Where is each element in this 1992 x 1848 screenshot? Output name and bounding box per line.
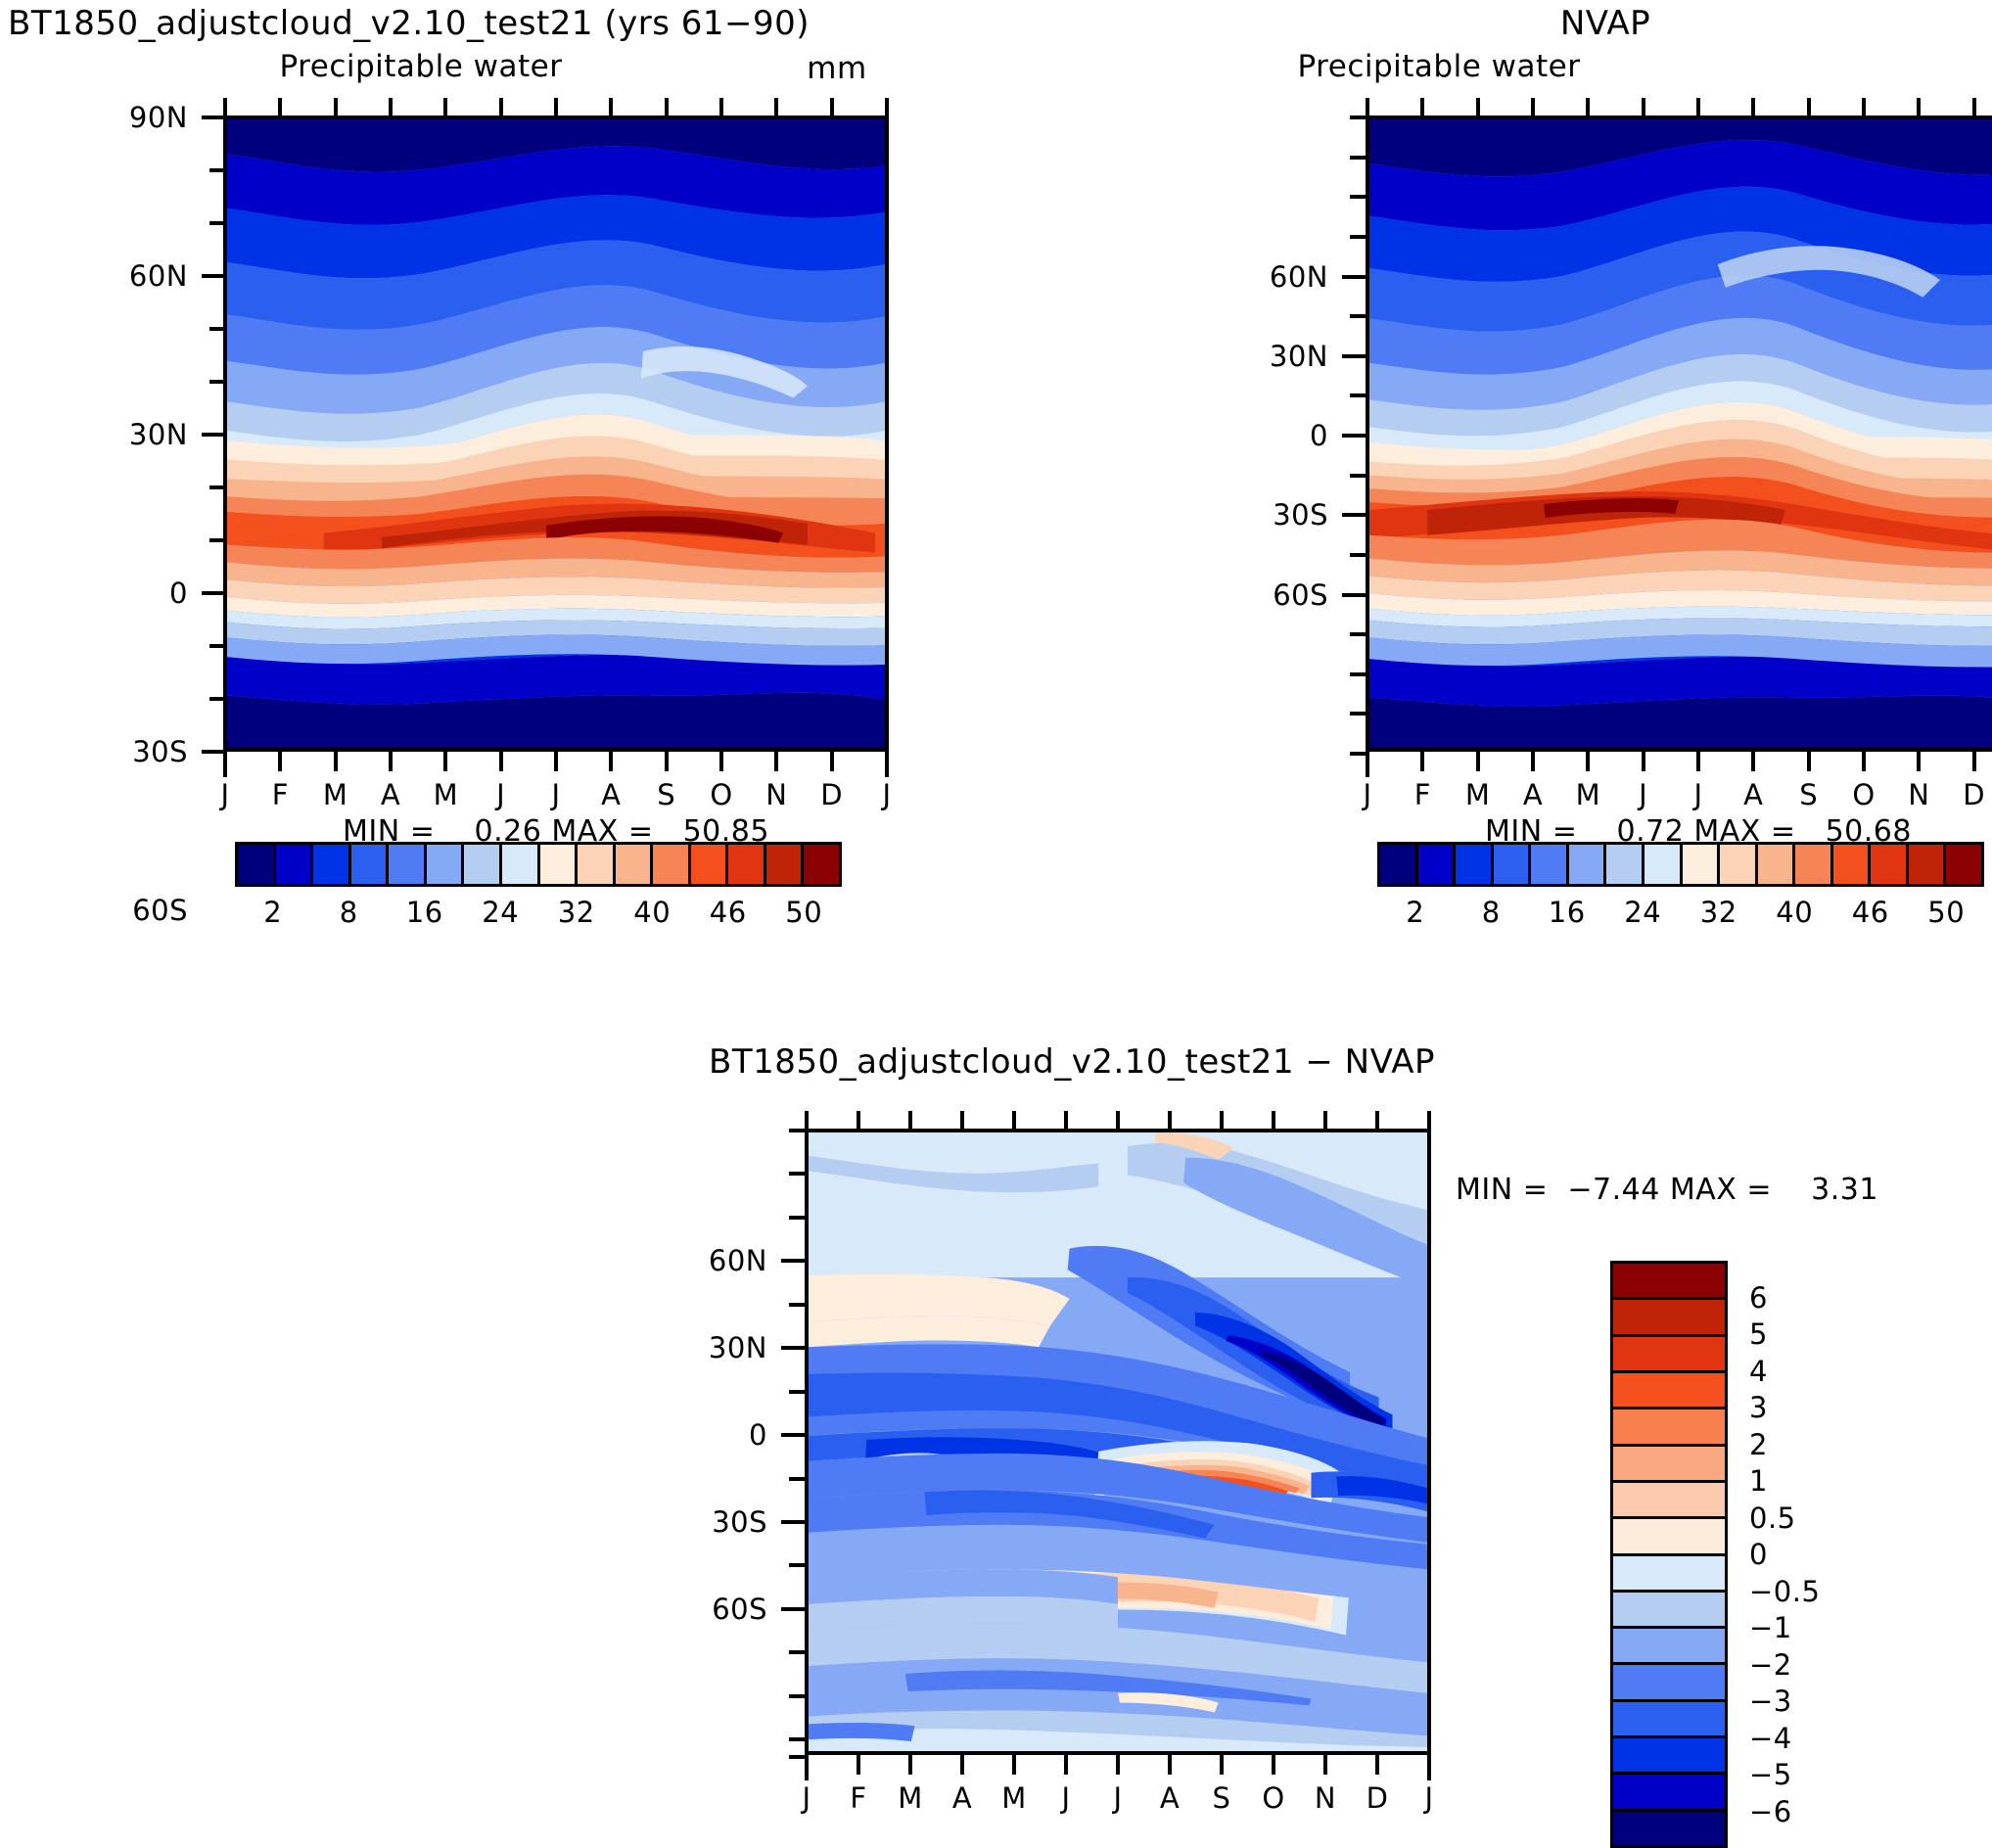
obs-xtick-top [1642,98,1645,117]
diff-colorbar-label-7: 0 [1749,1538,1768,1571]
obs-colorbar-label-5: 40 [1776,896,1813,929]
model-xtick [665,752,669,771]
diff-xlabel-2: M [898,1781,923,1815]
diff-xlabel-5: J [1061,1781,1070,1815]
model-colorbar-label-7: 50 [785,896,822,929]
diff-colorbar[interactable] [1610,1261,1728,1848]
diff-xtick-top [857,1111,860,1131]
model-xlabel-9: O [710,778,732,811]
model-xtick-top [223,98,227,117]
diff-colorbar-label-5: 1 [1749,1464,1768,1498]
model-xtick [499,752,503,771]
diff-colorbar-label-1: 5 [1749,1317,1768,1351]
model-ytick [209,485,225,489]
diff-ytick-minor [789,1172,805,1176]
model-colorbar-label-2: 16 [406,896,443,929]
diff-xtick [1272,1755,1275,1775]
diff-ytick-major [781,1346,805,1350]
diff-colorbar-cell [1613,1556,1725,1593]
obs-colorbar-label-3: 24 [1624,896,1661,929]
model-xlabel-3: A [381,778,400,811]
obs-ytick-minor [1350,672,1366,676]
diff-colorbar-label-3: 3 [1749,1391,1768,1424]
diff-xtick-top [1375,1111,1379,1131]
diff-colorbar-label-0: 6 [1749,1281,1768,1315]
model-ylabel-60S: 60S [132,894,188,927]
diff-xtick-top [1064,1111,1068,1131]
model-ylabel-0: 0 [169,577,188,610]
diff-colorbar-cell [1613,1702,1725,1738]
model-xlabel-5: J [496,778,505,811]
obs-ytick-minor [1350,712,1366,716]
model-xtick [223,752,227,777]
diff-xtick-top [1272,1111,1275,1131]
obs-colorbar-label-4: 32 [1700,896,1737,929]
obs-colorbar-cell [1418,845,1457,884]
diff-xtick [1220,1755,1224,1775]
model-ytick [209,697,225,701]
model-ytick [202,433,225,437]
model-xtick [830,752,834,771]
model-ytick [209,644,225,648]
model-xtick-top [278,98,282,117]
obs-ylabel-0: 0 [1310,419,1328,452]
diff-xtick [1012,1755,1016,1775]
obs-xlabel-7: A [1743,778,1763,811]
obs-xtick-top [1531,98,1535,117]
diff-plot-frame [805,1129,1431,1755]
model-colorbar-cell [389,845,427,884]
obs-xtick [1972,752,1976,771]
model-xtick-top [719,98,723,117]
model-panel-subtitle: Precipitable water [280,49,563,84]
obs-colorbar-cell [1758,845,1796,884]
obs-ytick-minor [1350,115,1366,119]
obs-ylabel-60N: 60N [1270,260,1328,294]
diff-colorbar-label-14: −6 [1749,1795,1792,1828]
model-xtick-top [443,98,447,117]
diff-colorbar-cell [1613,1264,1725,1300]
obs-ytick-major [1342,354,1366,358]
model-colorbar-cell [427,845,465,884]
model-colorbar-cell [653,845,691,884]
obs-ytick-minor [1350,393,1366,397]
obs-colorbar-label-6: 46 [1852,896,1889,929]
model-ytick [209,538,225,542]
model-ylabel-90N: 90N [129,101,188,134]
diff-xtick-top [805,1111,809,1131]
obs-ytick-minor [1350,314,1366,318]
obs-ytick-major [1342,593,1366,597]
diff-colorbar-label-2: 4 [1749,1355,1768,1388]
diff-contour-field [809,1132,1427,1751]
diff-ytick-minor [789,1390,805,1394]
diff-xtick-top [908,1111,912,1131]
model-colorbar-cell [616,845,654,884]
obs-xtick-top [1366,98,1369,117]
obs-xtick-top [1751,98,1755,117]
model-xtick [278,752,282,771]
model-xtick [554,752,558,771]
obs-xtick [1917,752,1921,771]
obs-xtick [1366,752,1369,777]
obs-colorbar-cell [1494,845,1532,884]
obs-colorbar-cell [1683,845,1721,884]
obs-xtick [1862,752,1866,771]
obs-xlabel-0: J [1363,778,1371,811]
obs-xtick [1807,752,1811,771]
model-xtick-top [774,98,778,117]
obs-ytick-minor [1350,235,1366,239]
diff-xlabel-9: O [1262,1781,1284,1815]
model-plot-frame [223,115,889,752]
model-colorbar-cell [313,845,351,884]
obs-ylabel-30N: 30N [1270,340,1328,373]
diff-colorbar-cell [1613,1447,1725,1483]
model-colorbar-cell [540,845,579,884]
obs-colorbar-cell [1871,845,1909,884]
model-xlabel-0: J [220,778,229,811]
diff-ylabel-30N: 30N [709,1331,767,1364]
obs-xtick [1642,752,1645,771]
diff-xtick [1116,1755,1120,1775]
obs-xtick [1586,752,1590,771]
diff-xlabel-11: D [1367,1781,1389,1815]
obs-colorbar-cell [1569,845,1607,884]
diff-colorbar-label-9: −1 [1749,1611,1792,1644]
diff-ytick-minor [789,1216,805,1220]
obs-colorbar-cell [1909,845,1947,884]
diff-colorbar-label-13: −5 [1749,1758,1792,1791]
diff-xtick-top [1427,1111,1431,1131]
model-ytick [202,591,225,595]
diff-colorbar-cell [1613,1593,1725,1629]
diff-xtick [1323,1755,1327,1775]
model-colorbar-label-1: 8 [340,896,358,929]
diff-colorbar-cell [1613,1812,1725,1845]
diff-colorbar-cell [1613,1300,1725,1336]
diff-xtick-top [1323,1111,1327,1131]
obs-xlabel-9: O [1852,778,1875,811]
diff-xtick [1427,1755,1431,1780]
obs-ytick-major [1342,434,1366,438]
obs-xtick [1420,752,1424,771]
diff-ytick-minor [789,1563,805,1567]
obs-colorbar-label-0: 2 [1406,896,1424,929]
diff-colorbar-cell [1613,1483,1725,1519]
obs-ytick-minor [1350,474,1366,478]
diff-colorbar-label-12: −4 [1749,1722,1792,1755]
diff-xtick-top [960,1111,964,1131]
model-xtick-top [554,98,558,117]
diff-ytick-major [781,1433,805,1437]
diff-xtick [960,1755,964,1775]
diff-panel-title: BT1850_adjustcloud_v2.10_test21 − NVAP [709,1042,1435,1082]
diff-colorbar-cell [1613,1373,1725,1409]
model-colorbar-cell [464,845,502,884]
obs-colorbar-label-7: 50 [1927,896,1965,929]
obs-xtick-top [1917,98,1921,117]
model-xtick [334,752,338,771]
model-ytick [209,380,225,384]
diff-xtick [1064,1755,1068,1775]
diff-colorbar-label-8: −0.5 [1749,1575,1820,1608]
diff-ytick-minor [789,1737,805,1741]
model-xtick [774,752,778,771]
diff-xtick-top [1116,1111,1120,1131]
diff-colorbar-cell [1613,1409,1725,1446]
diff-ylabel-60S: 60S [712,1593,767,1626]
diff-xlabel-7: A [1160,1781,1180,1815]
model-colorbar-label-0: 2 [263,896,282,929]
obs-colorbar-cell [1645,845,1683,884]
obs-colorbar-cell [1456,845,1494,884]
model-colorbar-cell [351,845,390,884]
obs-plot-frame [1366,115,1992,752]
diff-colorbar-label-10: −2 [1749,1648,1792,1682]
obs-colorbar-cell [1606,845,1645,884]
diff-xtick [908,1755,912,1775]
model-xtick-top [665,98,669,117]
obs-xlabel-2: M [1465,778,1491,811]
obs-colorbar-label-1: 8 [1482,896,1501,929]
diff-colorbar-label-11: −3 [1749,1685,1792,1718]
obs-xtick [1696,752,1700,771]
model-xtick-top [830,98,834,117]
diff-xtick-top [1168,1111,1172,1131]
obs-colorbar-cell [1946,845,1981,884]
obs-ytick-minor [1350,553,1366,557]
obs-xtick [1751,752,1755,771]
diff-ytick-minor [789,1755,805,1759]
obs-ytick-minor [1350,195,1366,199]
obs-ylabel-60S: 60S [1273,578,1328,612]
model-xtick [389,752,393,771]
model-xlabel-10: N [765,778,787,811]
diff-colorbar-cell [1613,1337,1725,1373]
model-colorbar[interactable] [235,842,842,887]
diff-ytick-major [781,1259,805,1263]
obs-colorbar-cell [1531,845,1569,884]
diff-colorbar-cell [1613,1519,1725,1555]
model-xtick-top [499,98,503,117]
model-colorbar-cell [804,845,839,884]
diff-xtick-top [1220,1111,1224,1131]
obs-ylabel-30S: 30S [1273,498,1328,531]
model-xlabel-6: J [551,778,560,811]
diff-xlabel-1: F [850,1781,866,1815]
model-colorbar-cell [276,845,314,884]
model-xtick-top [885,98,889,117]
model-colorbar-label-3: 24 [482,896,519,929]
model-colorbar-label-4: 32 [558,896,595,929]
obs-xlabel-3: A [1523,778,1543,811]
diff-xlabel-8: S [1213,1781,1231,1815]
obs-xtick-top [1862,98,1866,117]
model-colorbar-cell [578,845,616,884]
diff-xlabel-10: N [1315,1781,1336,1815]
diff-xtick [1168,1755,1172,1775]
obs-colorbar-label-2: 16 [1549,896,1586,929]
model-ylabel-30S: 30S [132,735,188,768]
diff-ytick-minor [789,1303,805,1307]
model-xlabel-4: M [434,778,459,811]
model-xlabel-11: D [820,778,843,811]
model-xlabel-8: S [657,778,675,811]
model-ylabel-30N: 30N [129,418,188,451]
obs-xtick-top [1476,98,1480,117]
model-xtick [885,752,889,777]
obs-xtick-top [1807,98,1811,117]
model-ytick [209,221,225,225]
obs-colorbar[interactable] [1377,842,1984,887]
obs-xtick-top [1696,98,1700,117]
obs-ytick-minor [1350,632,1366,636]
diff-colorbar-cell [1613,1738,1725,1775]
obs-xlabel-6: J [1693,778,1702,811]
obs-colorbar-cell [1720,845,1758,884]
diff-ylabel-30S: 30S [712,1505,767,1539]
diff-xtick [1375,1755,1379,1775]
model-units-label: mm [807,51,866,86]
obs-xlabel-4: M [1576,778,1601,811]
model-colorbar-cell [766,845,805,884]
model-ylabel-60N: 60N [129,259,188,293]
obs-contour-field [1369,119,1992,748]
diff-colorbar-cell [1613,1629,1725,1665]
obs-xlabel-1: F [1414,778,1431,811]
obs-xlabel-10: N [1908,778,1929,811]
model-xlabel-2: M [323,778,348,811]
obs-xtick-top [1586,98,1590,117]
model-colorbar-cell [502,845,540,884]
obs-xtick-top [1972,98,1976,117]
model-colorbar-cell [691,845,729,884]
diff-xlabel-6: J [1113,1781,1122,1815]
diff-ytick-minor [789,1129,805,1132]
model-ytick [209,327,225,331]
obs-ytick-major [1342,513,1366,517]
obs-ytick-minor [1350,752,1366,756]
obs-colorbar-cell [1380,845,1418,884]
model-xtick [443,752,447,771]
diff-xlabel-3: A [952,1781,972,1815]
model-xtick [719,752,723,771]
obs-ytick-major [1342,275,1366,279]
model-ytick [202,274,225,278]
diff-xlabel-4: M [1001,1781,1027,1815]
obs-colorbar-cell [1833,845,1872,884]
obs-ytick-minor [1350,156,1366,160]
model-xlabel-12: J [882,778,891,811]
obs-xlabel-5: J [1639,778,1647,811]
obs-xtick [1531,752,1535,771]
diff-colorbar-label-6: 0.5 [1749,1501,1796,1535]
diff-ylabel-0: 0 [749,1418,767,1452]
model-panel-title: BT1850_adjustcloud_v2.10_test21 (yrs 61−… [8,4,810,43]
model-colorbar-label-6: 46 [710,896,747,929]
model-contour-field [227,119,885,748]
diff-ytick-major [781,1607,805,1611]
diff-ytick-minor [789,1694,805,1698]
model-xlabel-1: F [272,778,289,811]
diff-ytick-major [781,1520,805,1524]
obs-xtick-top [1420,98,1424,117]
obs-panel-subtitle: Precipitable water [1298,49,1581,84]
model-xtick-top [334,98,338,117]
obs-panel-title: NVAP [1560,4,1650,43]
obs-xlabel-11: D [1963,778,1985,811]
model-colorbar-cell [728,845,766,884]
model-colorbar-label-5: 40 [633,896,671,929]
diff-ytick-minor [789,1477,805,1481]
model-xtick-top [389,98,393,117]
model-ytick [202,750,225,754]
diff-xtick-top [1012,1111,1016,1131]
diff-colorbar-label-4: 2 [1749,1428,1768,1461]
diff-xlabel-12: J [1424,1781,1433,1815]
diff-minmax: MIN = −7.44 MAX = 3.31 [1456,1173,1878,1207]
obs-xlabel-8: S [1799,778,1818,811]
obs-xtick [1476,752,1480,771]
diff-xtick [805,1755,809,1780]
diff-colorbar-cell [1613,1775,1725,1811]
diff-xtick [857,1755,860,1775]
diff-colorbar-cell [1613,1665,1725,1701]
model-xtick-top [609,98,613,117]
model-xtick [609,752,613,771]
model-ytick [209,168,225,172]
model-xlabel-7: A [601,778,621,811]
diff-xlabel-0: J [802,1781,811,1815]
diff-ylabel-60N: 60N [709,1244,767,1277]
model-ytick [202,115,225,119]
model-colorbar-cell [238,845,276,884]
obs-colorbar-cell [1795,845,1833,884]
diff-ytick-minor [789,1650,805,1654]
